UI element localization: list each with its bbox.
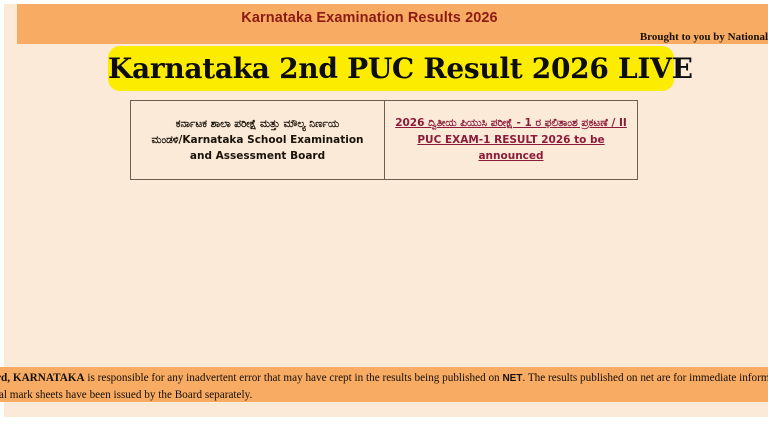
disclaimer-part1: Neither NIC nor the respective Board, [0,372,13,384]
board-name-text: ಕರ್ನಾಟಕ ಶಾಲಾ ಪರೀಕ್ಷೆ ಮತ್ತು ಮೌಲ್ಯ ನಿರ್ಣಯ … [139,116,376,165]
board-name-cell: ಕರ್ನಾಟಕ ಶಾಲಾ ಪರೀಕ್ಷೆ ಮತ್ತು ಮೌಲ್ಯ ನಿರ್ಣಯ … [131,101,385,179]
puc-result-announcement-link[interactable]: 2026 ದ್ವಿತೀಯ ಪಿಯುಸಿ ಪರೀಕ್ಷೆ - 1 ರ ಫಲಿತಾಂ… [393,115,629,165]
live-banner-title: Karnataka 2nd PUC Result 2026 LIVE [108,46,674,91]
disclaimer-banner: Neither NIC nor the respective Board, KA… [0,367,768,402]
disclaimer-net-label: NET [502,373,522,384]
page-title: Karnataka Examination Results 2026 [17,10,722,26]
disclaimer-board-name: KARNATAKA [13,372,85,384]
result-link-cell[interactable]: 2026 ದ್ವಿತೀಯ ಪಿಯುಸಿ ಪರೀಕ್ಷೆ - 1 ರ ಫಲಿತಾಂ… [385,101,637,179]
board-info-table: ಕರ್ನಾಟಕ ಶಾಲಾ ಪರೀಕ್ಷೆ ಮತ್ತು ಮೌಲ್ಯ ನಿರ್ಣಯ … [130,100,638,180]
disclaimer-text: Neither NIC nor the respective Board, KA… [0,370,768,402]
site-header: Karnataka Examination Results 2026 Broug… [17,4,768,44]
disclaimer-part2: is responsible for any inadvertent error… [85,372,503,384]
live-result-banner: Karnataka 2nd PUC Result 2026 LIVE [108,46,674,91]
page-root: Karnataka Examination Results 2026 Broug… [0,0,768,432]
header-credit-text: Brought to you by National [640,31,768,43]
